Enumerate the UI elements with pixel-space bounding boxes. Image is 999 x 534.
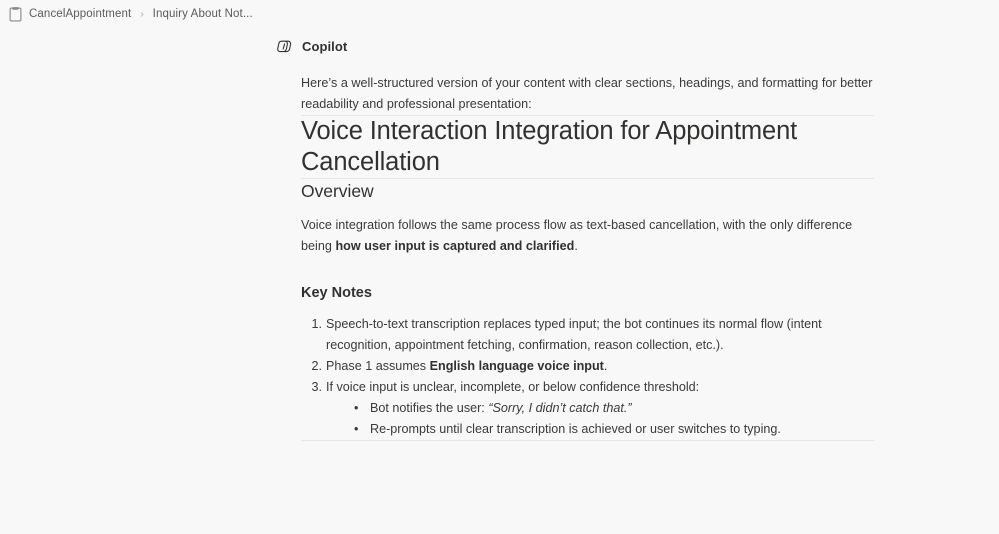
list-item: 3.If voice input is unclear, incomplete,… — [301, 377, 874, 440]
assistant-header: Copilot — [276, 35, 999, 57]
overview-paragraph: Voice integration follows the same proce… — [301, 215, 874, 257]
bullet-marker: • — [354, 398, 358, 419]
sub-item-lead: Re-prompts until clear transcription is … — [370, 422, 781, 436]
list-item-tail: . — [604, 359, 608, 373]
list-marker: 2. — [306, 356, 322, 377]
list-item: •Re-prompts until clear transcription is… — [348, 419, 874, 440]
overview-text-bold: how user input is captured and clarified — [335, 239, 574, 253]
list-item-bold: English language voice input — [430, 359, 604, 373]
sub-item-italic: “Sorry, I didn’t catch that.” — [488, 401, 631, 415]
bullet-marker: • — [354, 419, 358, 440]
message-body: Here’s a well-structured version of your… — [276, 73, 874, 441]
divider-bottom — [301, 440, 874, 441]
list-item-lead: If voice input is unclear, incomplete, o… — [326, 380, 699, 394]
overview-text-tail: . — [574, 239, 578, 253]
section-heading-key-notes: Key Notes — [301, 283, 874, 303]
assistant-message: Copilot Here’s a well-structured version… — [0, 28, 999, 441]
list-item: 2.Phase 1 assumes English language voice… — [301, 356, 874, 377]
breadcrumb: CancelAppointment › Inquiry About Not... — [0, 0, 999, 28]
copilot-icon — [276, 38, 293, 55]
list-marker: 1. — [306, 314, 322, 335]
sub-item-lead: Bot notifies the user: — [370, 401, 488, 415]
list-item: •Bot notifies the user: “Sorry, I didn’t… — [348, 398, 874, 419]
list-item-lead: Speech-to-text transcription replaces ty… — [326, 317, 822, 352]
section-heading-overview: Overview — [301, 179, 874, 203]
breadcrumb-item-0[interactable]: CancelAppointment — [29, 7, 131, 22]
page-title: Voice Interaction Integration for Appoin… — [301, 116, 874, 178]
document-icon — [9, 7, 22, 22]
assistant-name: Copilot — [302, 39, 347, 54]
list-item: 1.Speech-to-text transcription replaces … — [301, 314, 874, 356]
list-marker: 3. — [306, 377, 322, 398]
intro-paragraph: Here’s a well-structured version of your… — [301, 73, 874, 115]
key-notes-list: 1.Speech-to-text transcription replaces … — [301, 314, 874, 440]
breadcrumb-separator: › — [140, 7, 143, 22]
list-item-lead: Phase 1 assumes — [326, 359, 430, 373]
breadcrumb-item-1[interactable]: Inquiry About Not... — [153, 7, 253, 22]
sub-list-wrapper: •Bot notifies the user: “Sorry, I didn’t… — [348, 398, 874, 440]
key-notes-sub-list: •Bot notifies the user: “Sorry, I didn’t… — [348, 398, 874, 440]
